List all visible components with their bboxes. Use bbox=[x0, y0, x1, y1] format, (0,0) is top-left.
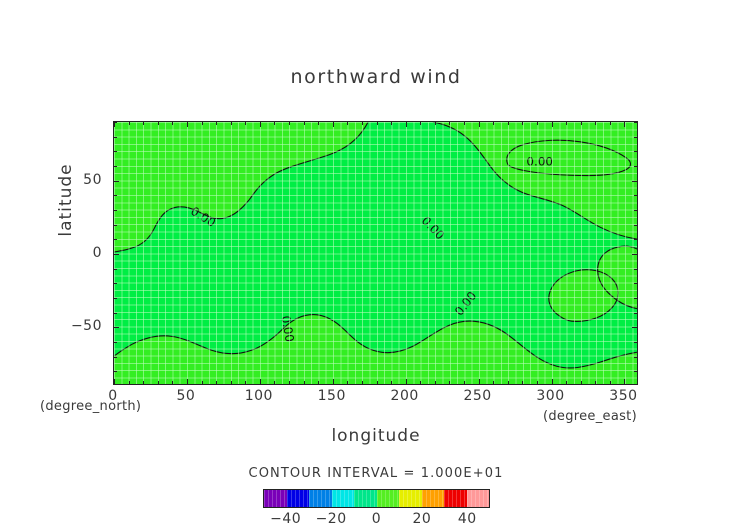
x-tick bbox=[377, 381, 378, 384]
x-tick bbox=[172, 122, 173, 125]
x-tick bbox=[333, 379, 334, 384]
y-tick bbox=[114, 254, 119, 255]
contour-svg: 0.00 0.00 0.00 0.00 0.00 bbox=[114, 122, 637, 384]
x-tick bbox=[420, 381, 421, 384]
x-tick bbox=[464, 381, 465, 384]
contour-interval-caption: CONTOUR INTERVAL = 1.000E+01 bbox=[0, 466, 752, 481]
colorbar-swatch-0 bbox=[264, 490, 287, 507]
x-tick bbox=[391, 381, 392, 384]
y-tick-label: −50 bbox=[62, 318, 102, 334]
x-tick bbox=[537, 122, 538, 125]
colorbar-swatch-4 bbox=[354, 490, 377, 507]
x-axis-unit: (degree_east) bbox=[543, 409, 637, 424]
x-tick-label: 100 bbox=[245, 388, 273, 404]
y-tick bbox=[114, 283, 117, 284]
y-tick bbox=[632, 181, 637, 182]
y-tick bbox=[114, 166, 117, 167]
y-tick bbox=[634, 239, 637, 240]
x-tick bbox=[274, 381, 275, 384]
contour-fill-positive bbox=[114, 122, 637, 384]
x-tick bbox=[114, 379, 115, 384]
colorbar-swatch-3 bbox=[332, 490, 355, 507]
y-tick bbox=[114, 181, 119, 182]
x-tick bbox=[406, 122, 407, 127]
x-tick-label: 250 bbox=[463, 388, 491, 404]
colorbar-swatch-1 bbox=[287, 490, 310, 507]
x-tick bbox=[333, 122, 334, 127]
x-tick bbox=[129, 381, 130, 384]
colorbar-tick-label: −20 bbox=[316, 511, 347, 527]
y-tick bbox=[114, 210, 117, 211]
x-tick bbox=[479, 122, 480, 127]
y-tick bbox=[634, 371, 637, 372]
x-tick bbox=[522, 122, 523, 125]
y-tick bbox=[632, 254, 637, 255]
y-tick bbox=[634, 137, 637, 138]
x-tick bbox=[362, 122, 363, 125]
x-tick bbox=[377, 122, 378, 125]
y-tick bbox=[634, 225, 637, 226]
x-tick bbox=[347, 122, 348, 125]
x-tick bbox=[158, 122, 159, 125]
page-title: northward wind bbox=[0, 66, 752, 88]
y-tick bbox=[114, 225, 117, 226]
x-tick bbox=[508, 122, 509, 125]
y-tick bbox=[634, 166, 637, 167]
colorbar bbox=[263, 489, 490, 508]
x-tick bbox=[187, 379, 188, 384]
x-tick bbox=[449, 122, 450, 125]
y-tick bbox=[114, 151, 117, 152]
x-tick bbox=[143, 122, 144, 125]
y-tick bbox=[114, 342, 117, 343]
x-tick bbox=[304, 122, 305, 125]
y-tick bbox=[634, 342, 637, 343]
x-tick bbox=[566, 122, 567, 125]
y-tick bbox=[634, 151, 637, 152]
x-tick bbox=[610, 122, 611, 125]
y-tick bbox=[634, 298, 637, 299]
y-tick bbox=[634, 122, 637, 123]
x-tick bbox=[216, 381, 217, 384]
x-tick bbox=[508, 381, 509, 384]
colorbar-tick-label: 40 bbox=[458, 511, 477, 527]
x-tick bbox=[610, 381, 611, 384]
x-tick bbox=[318, 122, 319, 125]
x-tick bbox=[187, 122, 188, 127]
colorbar-swatch-7 bbox=[422, 490, 445, 507]
y-tick bbox=[114, 195, 117, 196]
x-tick bbox=[624, 379, 625, 384]
x-tick bbox=[231, 122, 232, 125]
x-tick bbox=[289, 122, 290, 125]
x-tick bbox=[231, 381, 232, 384]
x-tick bbox=[493, 381, 494, 384]
x-tick bbox=[552, 379, 553, 384]
x-tick bbox=[260, 379, 261, 384]
x-tick-label: 350 bbox=[609, 388, 637, 404]
y-tick bbox=[634, 210, 637, 211]
x-tick bbox=[202, 122, 203, 125]
y-tick bbox=[114, 357, 117, 358]
x-tick-label: 300 bbox=[536, 388, 564, 404]
x-tick bbox=[522, 381, 523, 384]
colorbar-swatch-8 bbox=[444, 490, 467, 507]
x-tick bbox=[435, 381, 436, 384]
x-tick bbox=[435, 122, 436, 125]
y-axis-title: latitude bbox=[56, 130, 76, 270]
x-tick bbox=[449, 381, 450, 384]
x-tick bbox=[537, 381, 538, 384]
x-tick bbox=[362, 381, 363, 384]
x-axis-title: longitude bbox=[0, 426, 752, 446]
x-tick bbox=[245, 122, 246, 125]
x-tick bbox=[216, 122, 217, 125]
y-tick bbox=[634, 269, 637, 270]
x-tick bbox=[274, 122, 275, 125]
colorbar-swatch-5 bbox=[377, 490, 400, 507]
colorbar-tick-label: −40 bbox=[270, 511, 301, 527]
x-tick bbox=[289, 381, 290, 384]
y-tick bbox=[634, 357, 637, 358]
y-tick bbox=[114, 122, 117, 123]
x-tick-label: 50 bbox=[176, 388, 195, 404]
x-tick bbox=[624, 122, 625, 127]
x-tick bbox=[595, 381, 596, 384]
y-tick bbox=[632, 327, 637, 328]
colorbar-tick-label: 0 bbox=[372, 511, 381, 527]
x-tick bbox=[581, 381, 582, 384]
y-tick bbox=[114, 327, 119, 328]
colorbar-swatch-6 bbox=[399, 490, 422, 507]
x-tick bbox=[464, 122, 465, 125]
x-tick bbox=[158, 381, 159, 384]
x-tick bbox=[129, 122, 130, 125]
x-tick bbox=[172, 381, 173, 384]
y-tick bbox=[114, 313, 117, 314]
x-tick bbox=[595, 122, 596, 125]
x-tick bbox=[420, 122, 421, 125]
y-axis-unit: (degree_north) bbox=[40, 399, 141, 414]
x-tick bbox=[552, 122, 553, 127]
x-tick-label: 200 bbox=[391, 388, 419, 404]
x-tick bbox=[347, 381, 348, 384]
x-tick bbox=[260, 122, 261, 127]
y-tick bbox=[114, 239, 117, 240]
x-tick bbox=[391, 122, 392, 125]
x-tick bbox=[479, 379, 480, 384]
y-tick bbox=[634, 313, 637, 314]
colorbar-tick-label: 20 bbox=[412, 511, 431, 527]
x-tick bbox=[202, 381, 203, 384]
x-tick bbox=[406, 379, 407, 384]
y-tick bbox=[114, 269, 117, 270]
x-tick bbox=[581, 122, 582, 125]
y-tick bbox=[634, 195, 637, 196]
x-tick bbox=[318, 381, 319, 384]
x-tick bbox=[566, 381, 567, 384]
y-tick bbox=[114, 137, 117, 138]
y-tick bbox=[114, 298, 117, 299]
y-tick bbox=[634, 283, 637, 284]
x-tick bbox=[245, 381, 246, 384]
contour-plot-area: 0.00 0.00 0.00 0.00 0.00 bbox=[113, 121, 638, 385]
x-tick bbox=[143, 381, 144, 384]
contour-label: 0.00 bbox=[526, 155, 553, 169]
colorbar-swatch-9 bbox=[467, 490, 490, 507]
colorbar-swatch-2 bbox=[309, 490, 332, 507]
x-tick bbox=[493, 122, 494, 125]
x-tick bbox=[304, 381, 305, 384]
x-tick-label: 150 bbox=[318, 388, 346, 404]
y-tick bbox=[114, 371, 117, 372]
